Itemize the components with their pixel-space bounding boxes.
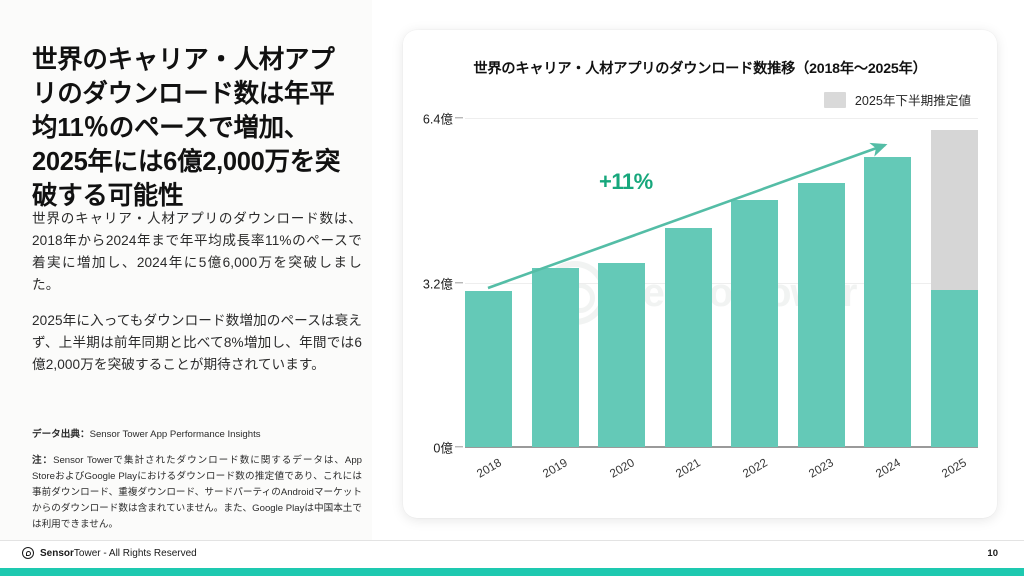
bar-2018 [465, 291, 512, 447]
footnote-label: 注： [32, 455, 53, 466]
data-source-value: Sensor Tower App Performance Insights [90, 429, 261, 440]
chart-card: 世界のキャリア・人材アプリのダウンロード数推移（2018年〜2025年） 202… [403, 30, 997, 518]
bar-slot-2024: 2024 [864, 118, 911, 447]
bar-2024 [864, 157, 911, 447]
body-paragraph-2: 2025年に入ってもダウンロード数増加のペースは衰えず、上半期は前年同期と比べて… [32, 310, 362, 376]
bar-group: 20182019202020212022202320242025 [465, 118, 978, 447]
chart-title: 世界のキャリア・人材アプリのダウンロード数推移（2018年〜2025年） [403, 58, 997, 78]
body-paragraph-1: 世界のキャリア・人材アプリのダウンロード数は、2018年から2024年まで年平均… [32, 208, 362, 296]
sensor-tower-logo-icon [22, 547, 34, 559]
chart-legend: 2025年下半期推定値 [824, 90, 971, 109]
x-tick-label-2018: 2018 [474, 455, 504, 480]
y-tick-label-0: 0億 [433, 438, 453, 457]
legend-label-estimate: 2025年下半期推定値 [855, 90, 971, 109]
bar-2020 [598, 263, 645, 447]
footer: SensorTower - All Rights Reserved 10 [0, 541, 1024, 568]
body-copy: 世界のキャリア・人材アプリのダウンロード数は、2018年から2024年まで年平均… [32, 208, 362, 390]
y-tick-label-1: 3.2億 [423, 273, 453, 292]
x-tick-label-2019: 2019 [540, 455, 570, 480]
y-tick-dash-2 [455, 117, 463, 118]
bar-slot-2025: 2025 [931, 118, 978, 447]
footnote-line: 注：Sensor Towerで集計されたダウンロード数に関するデータは、App … [32, 453, 362, 533]
y-tick-dash-0 [455, 446, 463, 447]
left-text-panel: 世界のキャリア・人材アプリのダウンロード数は年平均11％のペースで増加、2025… [0, 0, 372, 540]
bar-2023 [798, 183, 845, 447]
bar-2021 [665, 228, 712, 447]
bottom-accent-bar [0, 568, 1024, 576]
bar-2022 [731, 200, 778, 447]
page-number: 10 [987, 548, 998, 559]
footnote-value: Sensor Towerで集計されたダウンロード数に関するデータは、App St… [32, 455, 362, 530]
bar-slot-2022: 2022 [731, 118, 778, 447]
x-tick-label-2025: 2025 [940, 455, 970, 480]
footer-copyright: SensorTower - All Rights Reserved [40, 548, 197, 559]
footer-brand-bold: Sensor [40, 548, 74, 559]
slide-root: 世界のキャリア・人材アプリのダウンロード数は年平均11％のペースで増加、2025… [0, 0, 1024, 576]
chart-plot-area: 6.4億 3.2億 0億 201820192020202120222023202… [465, 118, 978, 447]
x-tick-label-2024: 2024 [873, 455, 903, 480]
y-tick-label-2: 6.4億 [423, 109, 453, 128]
bar-2025 [931, 290, 978, 447]
x-tick-label-2023: 2023 [806, 455, 836, 480]
x-tick-label-2021: 2021 [673, 455, 703, 480]
bar-slot-2020: 2020 [598, 118, 645, 447]
footer-brand: SensorTower - All Rights Reserved [22, 547, 197, 559]
bar-estimate-2025 [931, 130, 978, 290]
x-tick-label-2022: 2022 [740, 455, 770, 480]
y-tick-dash-1 [455, 282, 463, 283]
footer-brand-rest: Tower - All Rights Reserved [74, 548, 197, 559]
bar-slot-2019: 2019 [532, 118, 579, 447]
x-tick-label-2020: 2020 [607, 455, 637, 480]
bar-slot-2023: 2023 [798, 118, 845, 447]
bar-2019 [532, 268, 579, 447]
growth-rate-annotation: +11% [599, 169, 653, 195]
source-block: データ出典：Sensor Tower App Performance Insig… [32, 428, 362, 533]
legend-swatch-estimate [824, 92, 846, 108]
bar-slot-2021: 2021 [665, 118, 712, 447]
headline: 世界のキャリア・人材アプリのダウンロード数は年平均11％のペースで増加、2025… [32, 44, 352, 214]
data-source-label: データ出典： [32, 429, 90, 440]
data-source-line: データ出典：Sensor Tower App Performance Insig… [32, 428, 362, 442]
bar-slot-2018: 2018 [465, 118, 512, 447]
